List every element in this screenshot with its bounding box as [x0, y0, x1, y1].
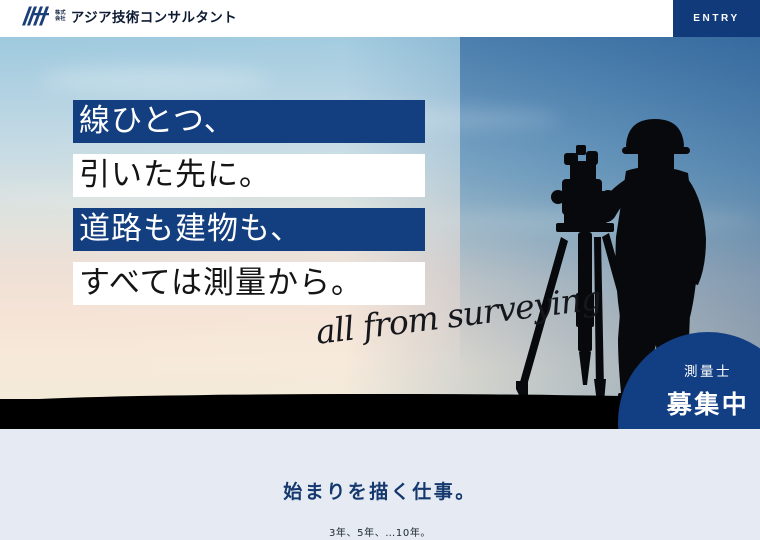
- headline-line-1: 線ひとつ、: [73, 100, 425, 143]
- cloud-shape: [40, 67, 270, 93]
- hero-headline: 線ひとつ、 引いた先に。 道路も建物も、 すべては測量から。: [73, 100, 425, 305]
- bottom-section-subtitle: 3年、5年、…10年。: [0, 524, 760, 539]
- logo-prefix-line2: 会社: [55, 16, 66, 22]
- bottom-section: 始まりを描く仕事。 3年、5年、…10年。: [0, 429, 760, 540]
- headline-line-4: すべては測量から。: [73, 262, 425, 305]
- site-logo[interactable]: 株式 会社 アジア技術コンサルタント: [22, 6, 237, 26]
- headline-line-3: 道路も建物も、: [73, 208, 425, 251]
- logo-company-name: アジア技術コンサルタント: [71, 6, 237, 26]
- entry-button[interactable]: ENTRY: [673, 0, 760, 37]
- ati-logo-mark: [22, 6, 50, 26]
- logo-prefix: 株式 会社: [55, 10, 66, 22]
- hero-section: 線ひとつ、 引いた先に。 道路も建物も、 すべては測量から。 all from …: [0, 37, 760, 429]
- badge-big-label: 募集中: [667, 385, 750, 421]
- bottom-section-title: 始まりを描く仕事。: [0, 477, 760, 504]
- site-header: 株式 会社 アジア技術コンサルタント ENTRY: [0, 0, 760, 37]
- badge-small-label: 測量士: [684, 360, 732, 380]
- headline-line-2: 引いた先に。: [73, 154, 425, 197]
